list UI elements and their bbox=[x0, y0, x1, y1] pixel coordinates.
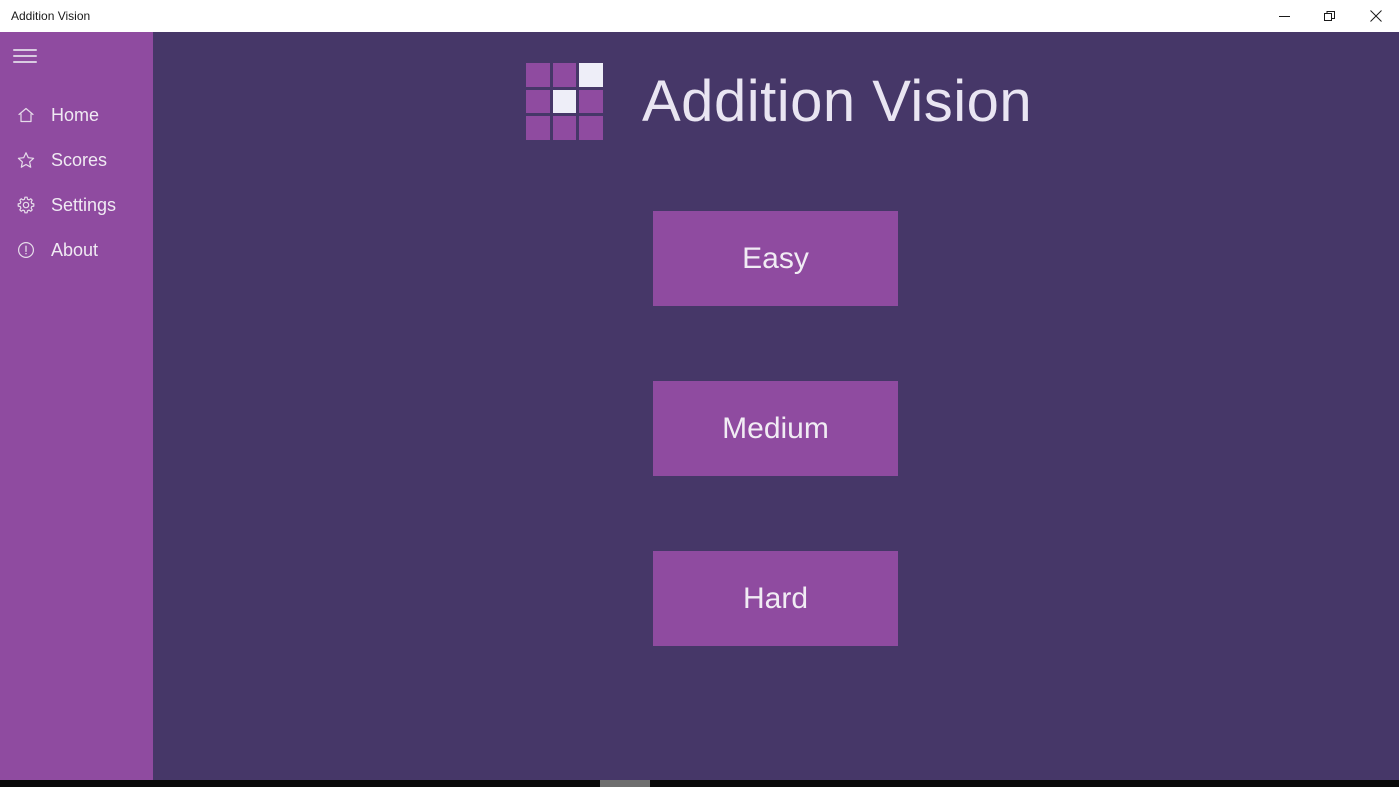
window-title: Addition Vision bbox=[0, 0, 90, 32]
logo-cell bbox=[526, 90, 550, 114]
brand-header: Addition Vision bbox=[526, 63, 1032, 140]
difficulty-easy-button[interactable]: Easy bbox=[653, 211, 898, 306]
logo-cell bbox=[553, 90, 577, 114]
minimize-icon bbox=[1279, 11, 1290, 22]
difficulty-medium-button[interactable]: Medium bbox=[653, 381, 898, 476]
hamburger-icon bbox=[13, 47, 37, 65]
close-icon bbox=[1370, 10, 1382, 22]
difficulty-hard-button[interactable]: Hard bbox=[653, 551, 898, 646]
logo-cell bbox=[579, 116, 603, 140]
home-icon bbox=[12, 105, 40, 125]
addition-vision-logo-icon bbox=[526, 63, 603, 140]
logo-cell bbox=[526, 63, 550, 87]
sidebar-item-label: About bbox=[51, 241, 98, 259]
sidebar-item-scores[interactable]: Scores bbox=[0, 137, 153, 182]
logo-cell bbox=[579, 63, 603, 87]
page-title: Addition Vision bbox=[642, 73, 1032, 131]
logo-cell bbox=[579, 90, 603, 114]
gear-icon bbox=[12, 195, 40, 215]
sidebar-item-about[interactable]: About bbox=[0, 227, 153, 272]
restore-icon bbox=[1324, 10, 1336, 22]
info-circle-icon bbox=[12, 240, 40, 260]
sidebar-item-label: Home bbox=[51, 106, 99, 124]
close-button[interactable] bbox=[1353, 0, 1399, 32]
restore-button[interactable] bbox=[1307, 0, 1353, 32]
sidebar-item-settings[interactable]: Settings bbox=[0, 182, 153, 227]
sidebar: Home Scores bbox=[0, 32, 153, 780]
main-content: Addition Vision Easy Medium Hard bbox=[153, 32, 1399, 780]
menu-toggle-button[interactable] bbox=[0, 32, 153, 80]
sidebar-nav: Home Scores bbox=[0, 92, 153, 272]
sidebar-item-label: Scores bbox=[51, 151, 107, 169]
difficulty-selector: Easy Medium Hard bbox=[653, 211, 898, 646]
application-window: Addition Vision bbox=[0, 0, 1399, 787]
sidebar-item-label: Settings bbox=[51, 196, 116, 214]
logo-cell bbox=[526, 116, 550, 140]
minimize-button[interactable] bbox=[1261, 0, 1307, 32]
window-controls bbox=[1261, 0, 1399, 32]
horizontal-scrollbar[interactable] bbox=[0, 780, 1399, 787]
logo-cell bbox=[553, 116, 577, 140]
title-bar: Addition Vision bbox=[0, 0, 1399, 32]
logo-cell bbox=[553, 63, 577, 87]
horizontal-scrollbar-thumb[interactable] bbox=[600, 780, 650, 787]
star-icon bbox=[12, 150, 40, 170]
sidebar-item-home[interactable]: Home bbox=[0, 92, 153, 137]
